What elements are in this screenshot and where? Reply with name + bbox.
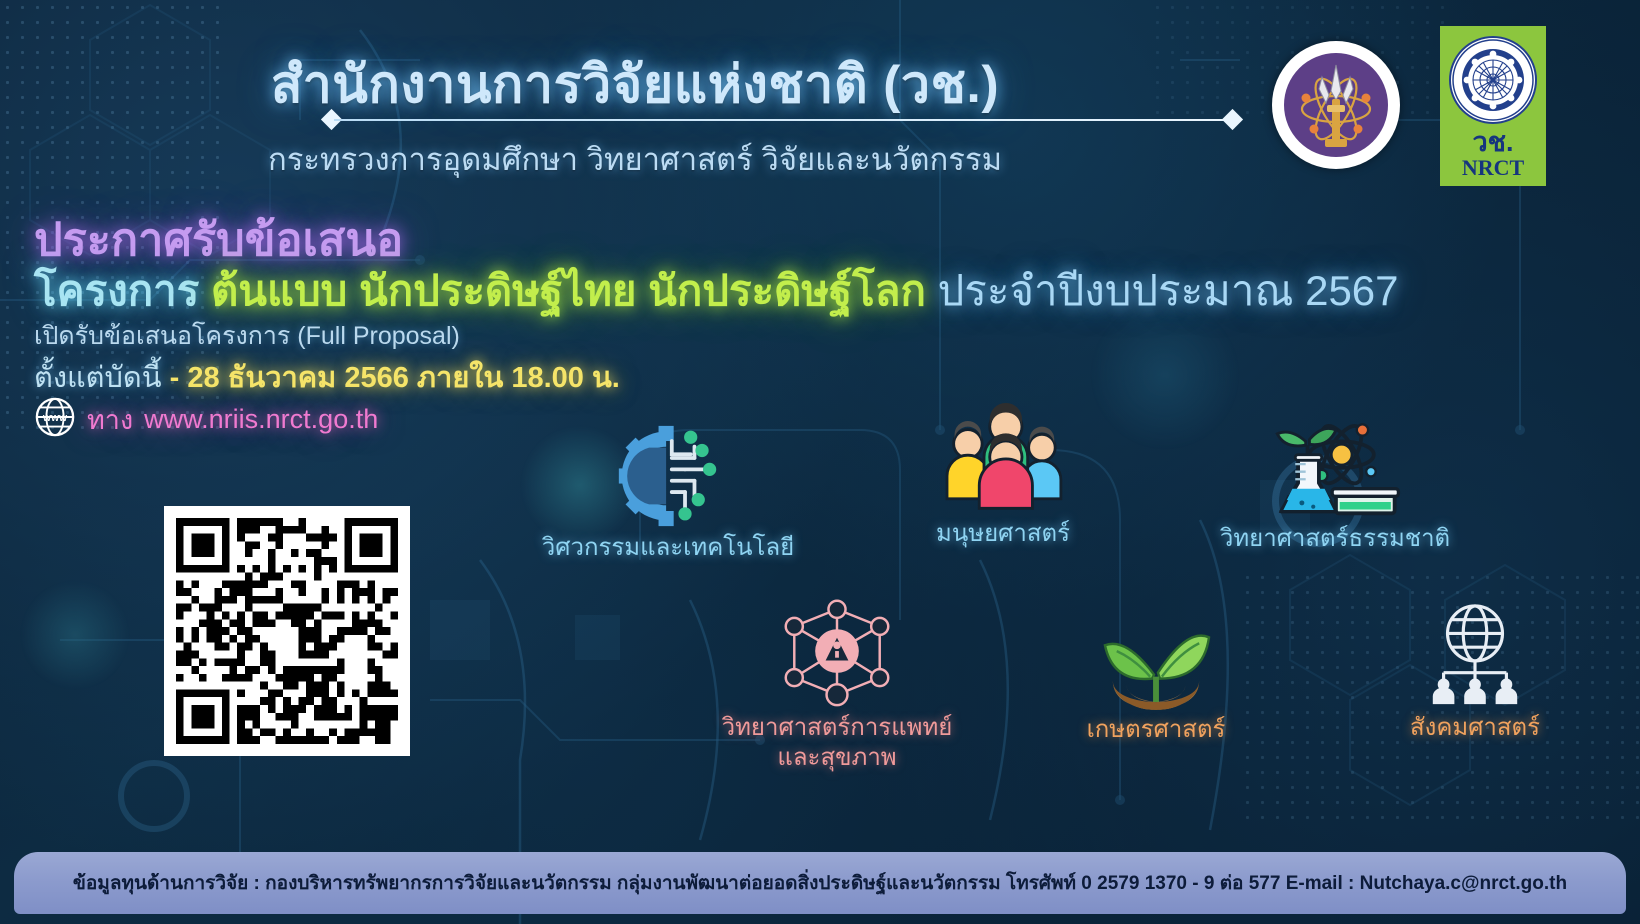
category-social-sciences[interactable]: สังคมศาสตร์ xyxy=(1380,604,1570,742)
category-engineering-technology[interactable]: วิศวกรรมและเทคโนโลยี xyxy=(548,424,788,562)
category-label: เกษตรศาสตร์ xyxy=(1087,716,1226,744)
website-prefix: ทาง xyxy=(87,398,133,441)
nrct-abbr-th: วช. xyxy=(1473,129,1514,156)
gear-circuit-icon xyxy=(609,424,727,528)
footer-contact-text: ข้อมูลทุนด้านการวิจัย : กองบริหารทรัพยาก… xyxy=(73,868,1567,898)
qr-code-canvas xyxy=(176,518,398,744)
globe-people-icon xyxy=(1416,604,1534,708)
ministry-emblem-icon xyxy=(1284,53,1388,157)
sprout-soil-icon xyxy=(1097,606,1215,710)
nrct-logo: วช. NRCT xyxy=(1440,26,1546,186)
deadline-prefix: ตั้งแต่บัดนี้ xyxy=(34,362,162,394)
project-name: ต้นแบบ นักประดิษฐ์ไทย นักประดิษฐ์โลก xyxy=(211,267,926,314)
nrct-abbr-en: NRCT xyxy=(1462,156,1524,180)
category-label-line2: และสุขภาพ xyxy=(777,744,896,772)
globe-www-icon: WWW xyxy=(34,396,76,443)
divider-diamond-right xyxy=(1222,109,1243,130)
category-natural-sciences[interactable]: วิทยาศาสตร์ธรรมชาติ xyxy=(1205,415,1465,553)
ministry-logo xyxy=(1272,41,1400,169)
project-fiscal-year: ประจำปีงบประมาณ 2567 xyxy=(938,267,1399,314)
title-divider xyxy=(322,110,1242,130)
announcement-deadline: ตั้งแต่บัดนี้ - 28 ธันวาคม 2566 ภายใน 18… xyxy=(34,354,620,400)
category-label: วิทยาศาสตร์การแพทย์ xyxy=(722,714,953,742)
category-label: วิศวกรรมและเทคโนโลยี xyxy=(542,534,794,562)
announcement-subtitle: เปิดรับข้อเสนอโครงการ (Full Proposal) xyxy=(34,316,460,356)
svg-text:WWW: WWW xyxy=(43,413,68,423)
qr-code[interactable] xyxy=(164,506,410,756)
glow-ring-2 xyxy=(118,760,190,832)
flask-atom-icon xyxy=(1260,415,1410,519)
footer-bar: ข้อมูลทุนด้านการวิจัย : กองบริหารทรัพยาก… xyxy=(14,852,1626,914)
announcement-project-line: โครงการ ต้นแบบ นักประดิษฐ์ไทย นักประดิษฐ… xyxy=(34,258,1399,324)
category-medical-health-sciences[interactable]: วิทยาศาสตร์การแพทย์ และสุขภาพ xyxy=(712,604,962,773)
website-line[interactable]: WWW ทาง www.nriis.nrct.go.th xyxy=(34,396,378,443)
deadline-value: - 28 ธันวาคม 2566 ภายใน 18.00 น. xyxy=(170,362,620,394)
project-prefix: โครงการ xyxy=(34,267,199,314)
page-subtitle: กระทรวงการอุดมศึกษา วิทยาศาสตร์ วิจัยและ… xyxy=(0,134,1270,184)
website-url[interactable]: www.nriis.nrct.go.th xyxy=(144,404,378,435)
category-label: มนุษยศาสตร์ xyxy=(936,520,1070,548)
poster-root: สำนักงานการวิจัยแห่งชาติ (วช.) กระทรวงกา… xyxy=(0,0,1640,924)
molecule-biohazard-icon xyxy=(774,604,900,708)
nrct-seal-icon xyxy=(1449,36,1537,124)
category-label: สังคมศาสตร์ xyxy=(1410,714,1540,742)
category-humanities[interactable]: มนุษยศาสตร์ xyxy=(888,410,1118,548)
category-agriculture[interactable]: เกษตรศาสตร์ xyxy=(1056,606,1256,744)
people-group-icon xyxy=(940,410,1066,514)
glow-blob-2 xyxy=(20,580,130,690)
divider-line xyxy=(334,119,1230,121)
category-label: วิทยาศาสตร์ธรรมชาติ xyxy=(1220,525,1450,553)
